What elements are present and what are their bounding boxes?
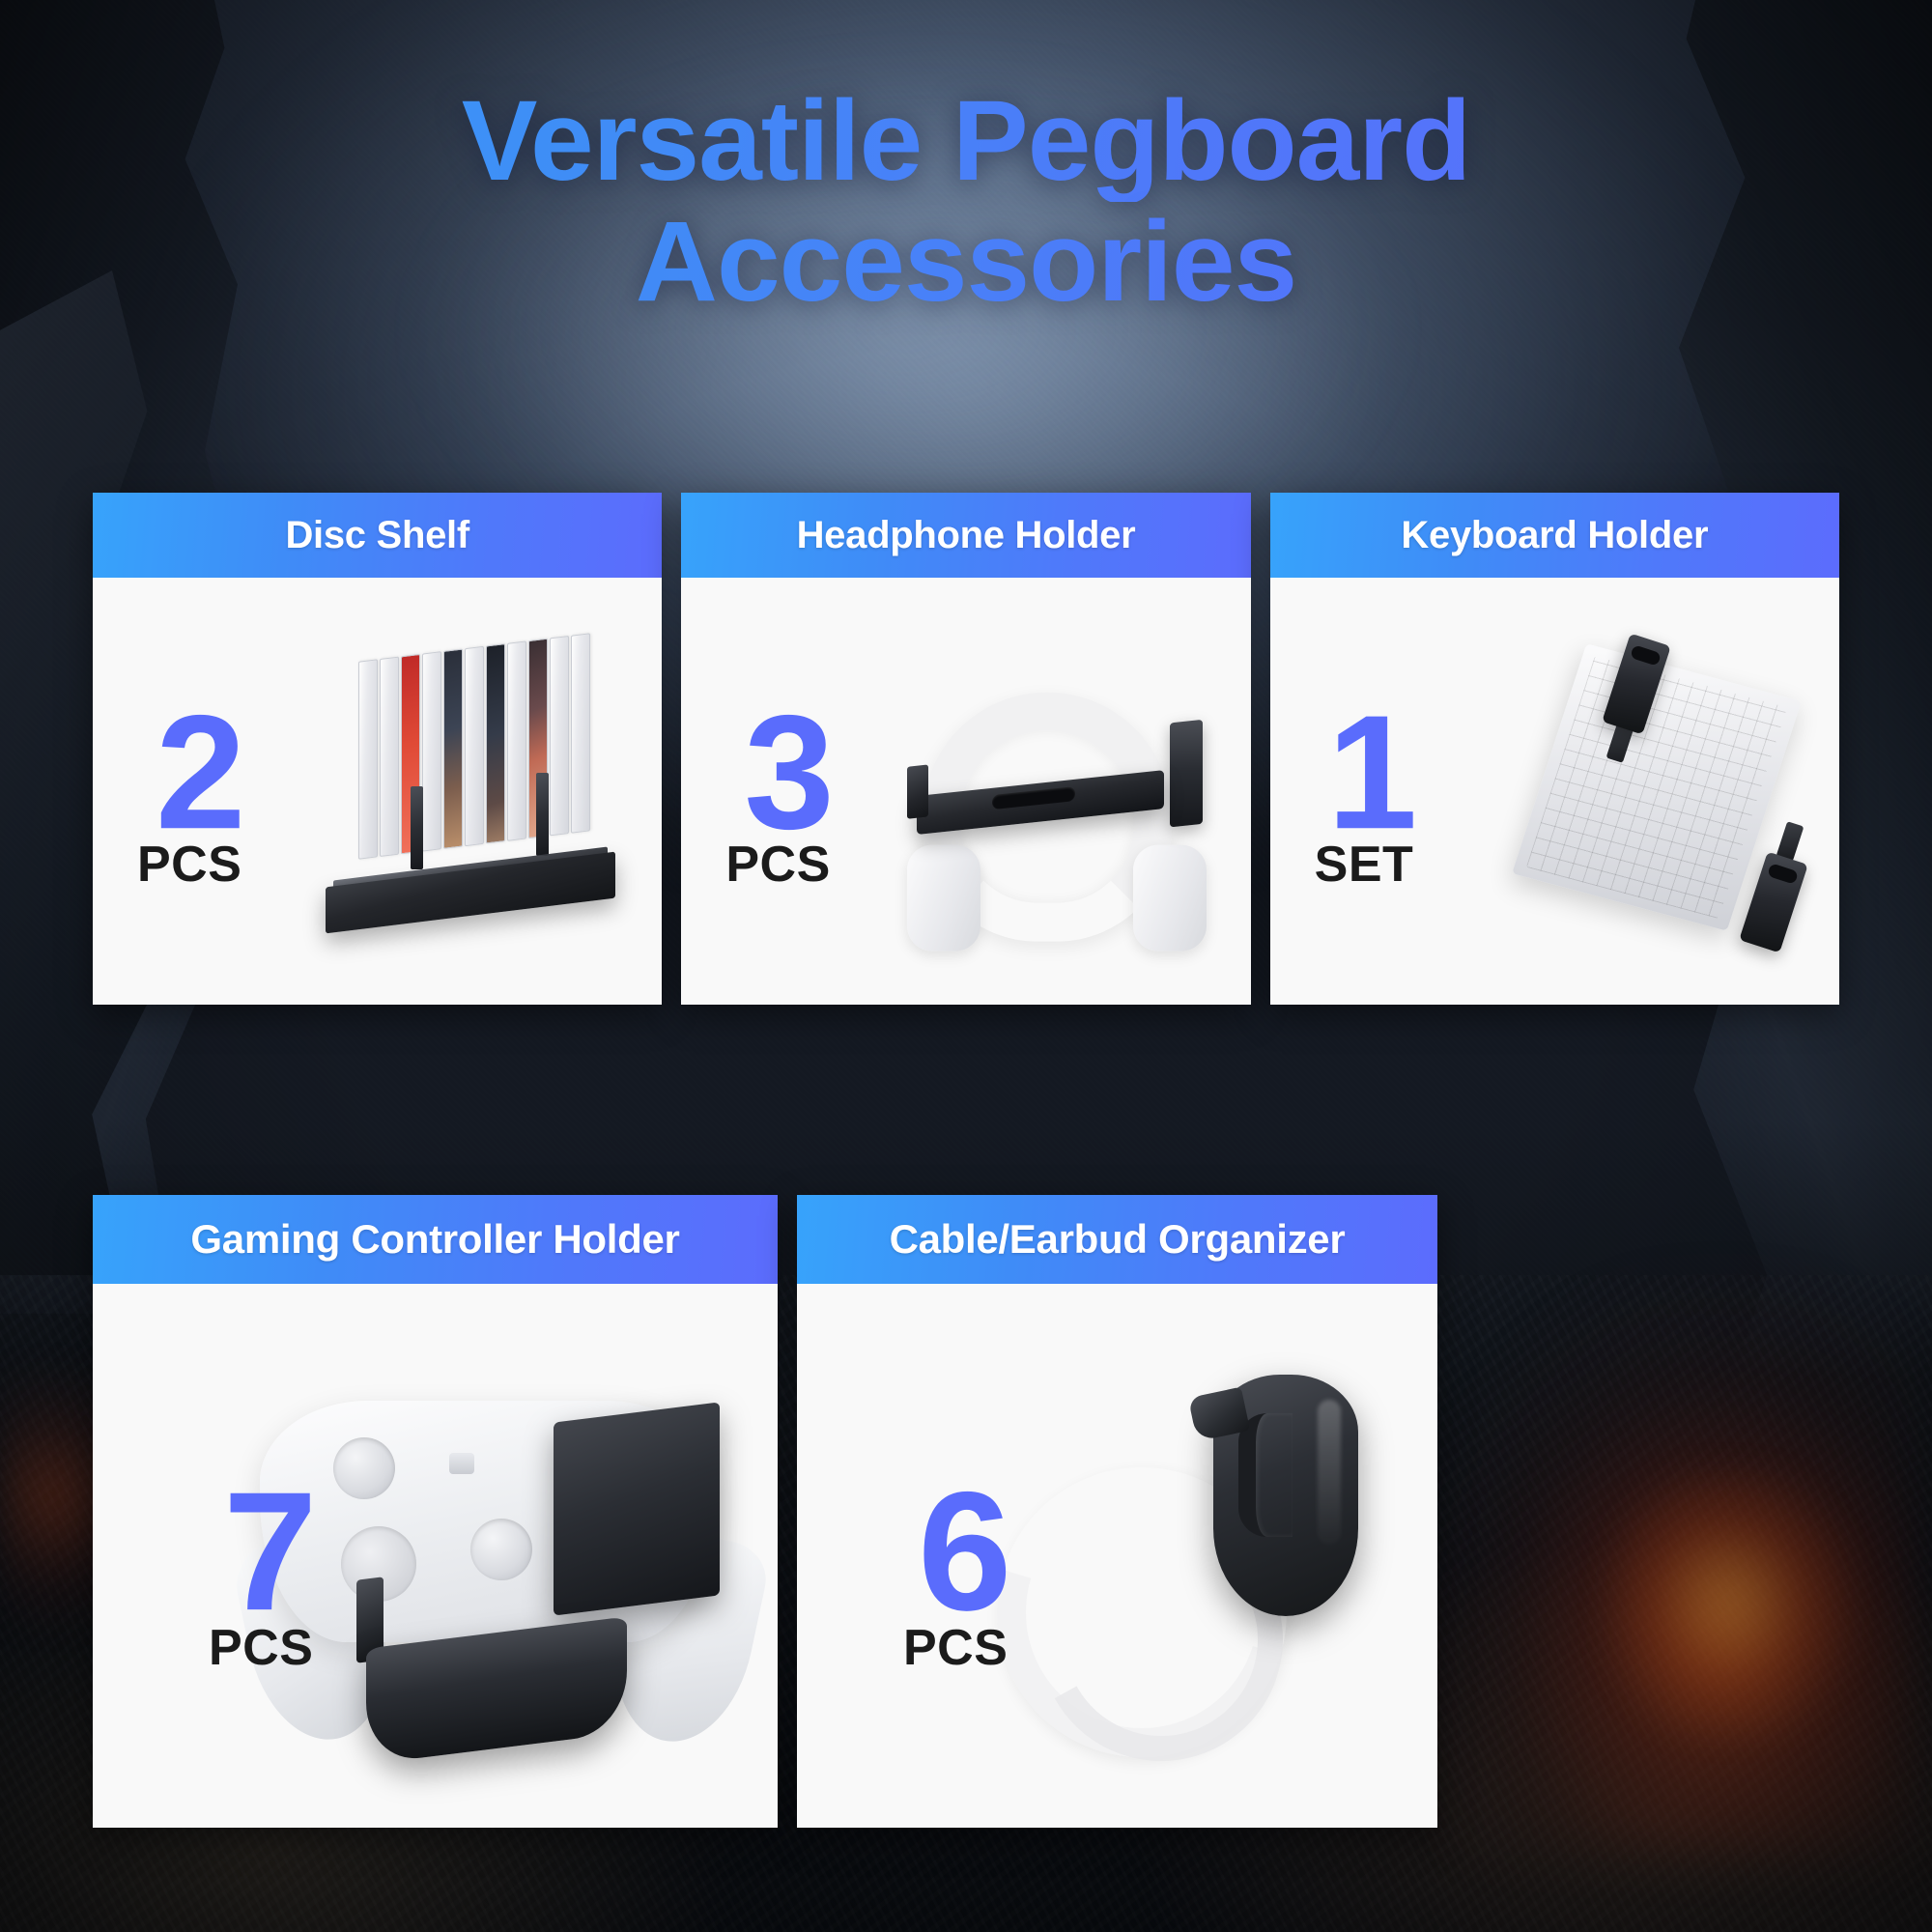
disc-case xyxy=(571,633,590,833)
controller-holder-product-image xyxy=(241,1329,762,1783)
controller-holder-wall-plate xyxy=(554,1402,720,1615)
card-title-controller-holder: Gaming Controller Holder xyxy=(190,1216,679,1263)
card-header-disc-shelf: Disc Shelf xyxy=(93,493,662,578)
card-header-cable-organizer: Cable/Earbud Organizer xyxy=(797,1195,1437,1284)
disc-shelf-product-image xyxy=(326,641,644,941)
cable-organizer-groove xyxy=(1238,1413,1293,1537)
disc-shelf-divider xyxy=(536,773,549,856)
disc-shelf-divider xyxy=(411,786,423,869)
card-body-controller-holder: 7 PCS xyxy=(93,1284,778,1828)
card-title-disc-shelf: Disc Shelf xyxy=(285,514,469,557)
headphone-earcup-left xyxy=(907,845,980,952)
quantity-unit-keyboard-holder: SET xyxy=(1315,844,1414,888)
keyboard-holder-product-image xyxy=(1507,632,1826,951)
card-title-cable-organizer: Cable/Earbud Organizer xyxy=(890,1216,1346,1263)
quantity-badge-headphone-holder: 3 PCS xyxy=(725,702,830,887)
quantity-number-controller-holder: 7 xyxy=(223,1480,313,1626)
card-header-keyboard-holder: Keyboard Holder xyxy=(1270,493,1839,578)
disc-case xyxy=(465,646,484,846)
card-body-disc-shelf: 2 PCS xyxy=(93,578,662,1005)
quantity-number-headphone-holder: 3 xyxy=(744,702,830,841)
headphone-holder-wall-plate xyxy=(1170,720,1203,828)
card-body-keyboard-holder: 1 SET xyxy=(1270,578,1839,1005)
page-title-line-2: Accessories xyxy=(0,202,1932,323)
cable-organizer-highlight xyxy=(1318,1400,1341,1545)
controller-analog-stick-left xyxy=(333,1437,395,1499)
controller-analog-stick-right xyxy=(470,1519,532,1580)
card-title-headphone-holder: Headphone Holder xyxy=(797,514,1136,557)
headphone-earcup-right xyxy=(1133,845,1207,952)
disc-case xyxy=(507,640,526,840)
product-card-disc-shelf[interactable]: Disc Shelf 2 PCS xyxy=(93,493,662,1005)
card-body-cable-organizer: 6 PCS xyxy=(797,1284,1437,1828)
product-card-row-top: Disc Shelf 2 PCS xyxy=(93,493,1839,898)
card-title-keyboard-holder: Keyboard Holder xyxy=(1401,514,1708,557)
product-card-row-bottom: Gaming Controller Holder 7 PCS xyxy=(93,1195,1839,1828)
quantity-unit-cable-organizer: PCS xyxy=(903,1627,1008,1670)
controller-menu-button xyxy=(449,1453,474,1474)
quantity-unit-disc-shelf: PCS xyxy=(137,844,241,888)
disc-case xyxy=(486,643,505,843)
cable-organizer-product-image xyxy=(987,1344,1393,1769)
disc-case xyxy=(358,659,378,859)
infographic-page: Versatile Pegboard Accessories Disc Shel… xyxy=(0,0,1932,1932)
quantity-badge-controller-holder: 7 PCS xyxy=(209,1480,313,1670)
quantity-unit-headphone-holder: PCS xyxy=(725,844,830,888)
card-body-headphone-holder: 3 PCS xyxy=(681,578,1250,1005)
page-title: Versatile Pegboard Accessories xyxy=(0,81,1932,323)
disc-case xyxy=(550,636,569,836)
quantity-badge-cable-organizer: 6 PCS xyxy=(903,1480,1008,1670)
quantity-number-disc-shelf: 2 xyxy=(156,702,241,841)
quantity-number-cable-organizer: 6 xyxy=(918,1480,1008,1626)
headphone-holder-product-image xyxy=(884,639,1232,957)
headphone-holder-lip xyxy=(907,764,928,818)
quantity-badge-disc-shelf: 2 PCS xyxy=(137,702,241,887)
card-header-headphone-holder: Headphone Holder xyxy=(681,493,1250,578)
keyboard-keys xyxy=(1526,656,1787,919)
disc-case xyxy=(380,657,399,857)
keyboard-holder-clip-bottom xyxy=(1739,852,1808,953)
product-card-keyboard-holder[interactable]: Keyboard Holder 1 SET xyxy=(1270,493,1839,1005)
disc-case xyxy=(422,651,441,851)
quantity-unit-controller-holder: PCS xyxy=(209,1627,313,1670)
disc-case-stack xyxy=(358,633,590,859)
product-card-cable-organizer[interactable]: Cable/Earbud Organizer 6 PCS xyxy=(797,1195,1437,1828)
product-card-headphone-holder[interactable]: Headphone Holder 3 PCS xyxy=(681,493,1250,1005)
card-header-controller-holder: Gaming Controller Holder xyxy=(93,1195,778,1284)
quantity-number-keyboard-holder: 1 xyxy=(1327,702,1413,841)
disc-case xyxy=(443,648,463,848)
product-card-controller-holder[interactable]: Gaming Controller Holder 7 PCS xyxy=(93,1195,778,1828)
quantity-badge-keyboard-holder: 1 SET xyxy=(1315,702,1414,887)
cable-organizer-clip xyxy=(1213,1375,1358,1616)
page-title-line-1: Versatile Pegboard xyxy=(0,81,1932,202)
